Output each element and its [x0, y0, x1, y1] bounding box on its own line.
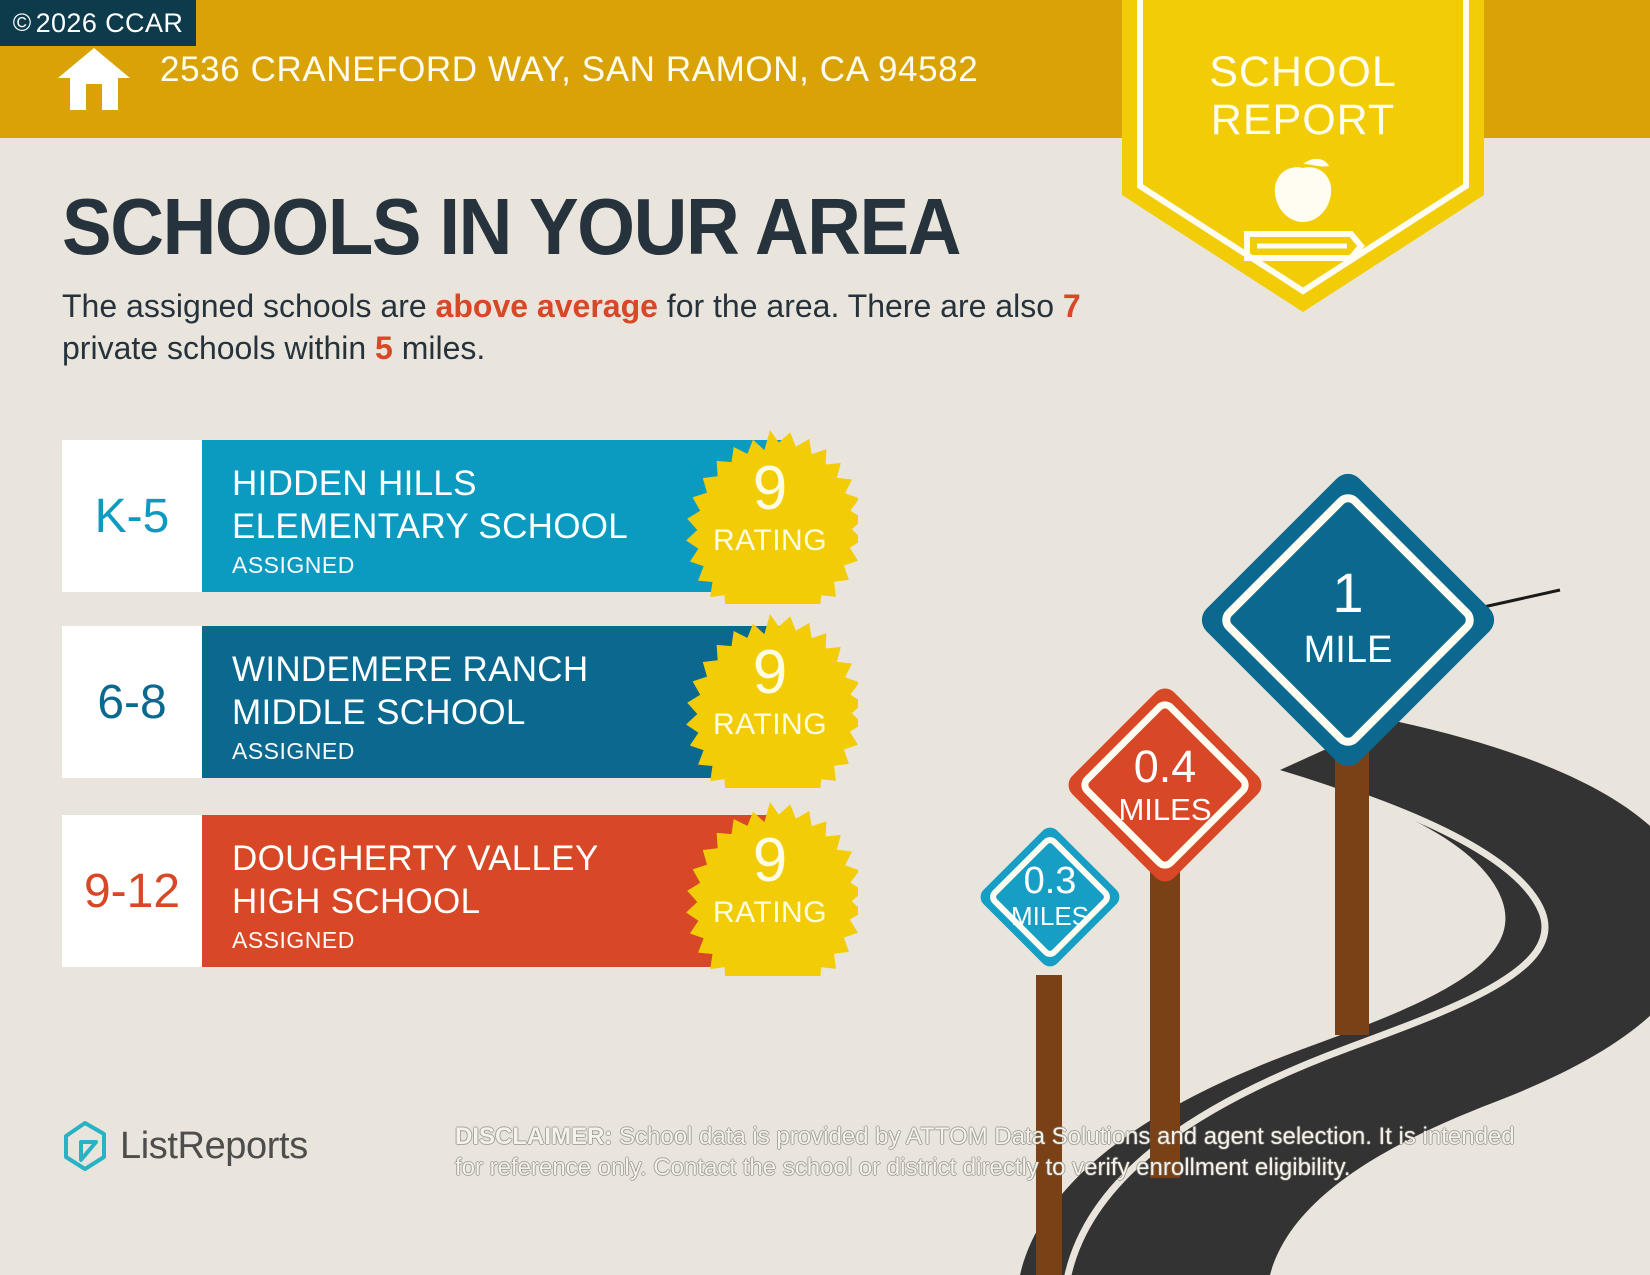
school-rating-label: RATING	[682, 896, 858, 930]
school-report-badge	[1122, 0, 1484, 312]
listreports-logo-text: ListReports	[120, 1125, 308, 1168]
school-rating-badge: 9 RATING	[682, 428, 858, 604]
subtitle-highlight-count: 7	[1063, 288, 1081, 324]
page-title: SCHOOLS IN YOUR AREA	[62, 185, 960, 269]
distance-unit: MILES	[1011, 901, 1089, 931]
home-icon	[58, 48, 130, 110]
subtitle-highlight-radius: 5	[375, 330, 393, 366]
school-rating-badge: 9 RATING	[682, 612, 858, 788]
school-grade-box: 9-12	[62, 815, 202, 967]
copyright-text: 2026 CCAR	[36, 8, 184, 39]
school-rating-label: RATING	[682, 708, 858, 742]
subtitle-part-3: private schools within	[62, 330, 375, 366]
school-row[interactable]: 6-8 WINDEMERE RANCH MIDDLE SCHOOL ASSIGN…	[62, 626, 782, 778]
school-rating-value: 9	[682, 830, 858, 892]
distance-value: 0.4	[1134, 741, 1197, 792]
school-row[interactable]: 9-12 DOUGHERTY VALLEY HIGH SCHOOL ASSIGN…	[62, 815, 782, 967]
disclaimer-text: DISCLAIMER: School data is provided by A…	[455, 1121, 1515, 1183]
school-grade-box: K-5	[62, 440, 202, 592]
subtitle-highlight-rating: above average	[436, 288, 658, 324]
property-address: 2536 CRANEFORD WAY, SAN RAMON, CA 94582	[160, 50, 978, 90]
school-rating-value: 9	[682, 458, 858, 520]
school-rating-label: RATING	[682, 524, 858, 558]
listreports-house-icon	[62, 1120, 108, 1172]
distance-value: 1	[1332, 561, 1363, 624]
school-row[interactable]: K-5 HIDDEN HILLS ELEMENTARY SCHOOL ASSIG…	[62, 440, 782, 592]
school-rating-value: 9	[682, 642, 858, 704]
sign-post	[1335, 725, 1369, 1035]
distance-value: 0.3	[1024, 860, 1077, 902]
disclaimer-label: DISCLAIMER:	[455, 1123, 612, 1150]
disclaimer-body: School data is provided by ATTOM Data So…	[455, 1123, 1515, 1181]
school-grade-box: 6-8	[62, 626, 202, 778]
school-rating-badge: 9 RATING	[682, 800, 858, 976]
subtitle-part-1: The assigned schools are	[62, 288, 436, 324]
school-report-infographic: © 2026 CCAR 2536 CRANEFORD WAY, SAN RAMO…	[0, 0, 1650, 1275]
distance-unit: MILES	[1118, 792, 1211, 827]
page-subtitle: The assigned schools are above average f…	[62, 285, 1102, 369]
subtitle-part-2: for the area. There are also	[658, 288, 1063, 324]
copyright-badge: © 2026 CCAR	[0, 0, 196, 46]
copyright-symbol-icon: ©	[13, 9, 32, 38]
subtitle-part-4: miles.	[393, 330, 485, 366]
listreports-logo[interactable]: ListReports	[62, 1118, 308, 1174]
distance-unit: MILE	[1304, 629, 1393, 671]
